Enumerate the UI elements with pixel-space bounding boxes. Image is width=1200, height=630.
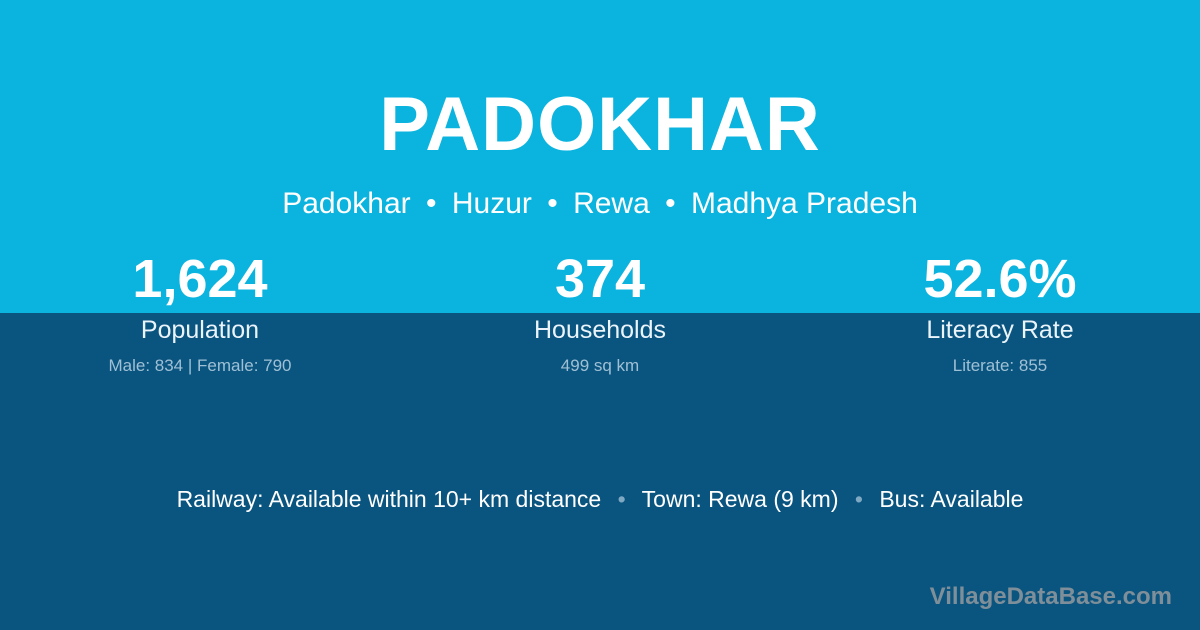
stat-block-households: 374 Households 499 sq km bbox=[400, 248, 800, 376]
stat-sub-population: Male: 834 | Female: 790 bbox=[0, 355, 400, 376]
breadcrumb-state: Madhya Pradesh bbox=[691, 187, 918, 220]
breadcrumb-separator-icon: • bbox=[419, 187, 444, 220]
breadcrumb: Padokhar • Huzur • Rewa • Madhya Pradesh bbox=[0, 172, 1200, 222]
village-info-card: PADOKHAR Padokhar • Huzur • Rewa • Madhy… bbox=[0, 0, 1200, 630]
breadcrumb-block: Huzur bbox=[452, 187, 532, 220]
stat-sub-literacy: Literate: 855 bbox=[800, 355, 1200, 376]
info-item-railway: Railway: Available within 10+ km distanc… bbox=[177, 486, 602, 512]
stat-value-literacy: 52.6% bbox=[800, 248, 1200, 310]
info-item-bus: Bus: Available bbox=[879, 486, 1023, 512]
breadcrumb-district: Rewa bbox=[573, 187, 650, 220]
stat-value-households: 374 bbox=[400, 248, 800, 310]
info-separator-icon: • bbox=[608, 486, 636, 512]
stat-label-literacy: Literacy Rate bbox=[800, 315, 1200, 345]
stat-block-literacy: 52.6% Literacy Rate Literate: 855 bbox=[800, 248, 1200, 376]
stat-label-population: Population bbox=[0, 315, 400, 345]
site-brand-watermark: VillageDataBase.com bbox=[930, 582, 1172, 612]
page-title: PADOKHAR bbox=[0, 0, 1200, 172]
stat-label-households: Households bbox=[400, 315, 800, 345]
stat-value-population: 1,624 bbox=[0, 248, 400, 310]
stat-sub-households: 499 sq km bbox=[400, 355, 800, 376]
info-item-town: Town: Rewa (9 km) bbox=[642, 486, 839, 512]
stats-row: 1,624 Population Male: 834 | Female: 790… bbox=[0, 248, 1200, 376]
breadcrumb-separator-icon: • bbox=[540, 187, 565, 220]
info-separator-icon: • bbox=[845, 486, 873, 512]
stat-block-population: 1,624 Population Male: 834 | Female: 790 bbox=[0, 248, 400, 376]
card-header: PADOKHAR Padokhar • Huzur • Rewa • Madhy… bbox=[0, 0, 1200, 222]
breadcrumb-village: Padokhar bbox=[282, 187, 410, 220]
breadcrumb-separator-icon: • bbox=[658, 187, 683, 220]
amenities-info-row: Railway: Available within 10+ km distanc… bbox=[0, 484, 1200, 515]
